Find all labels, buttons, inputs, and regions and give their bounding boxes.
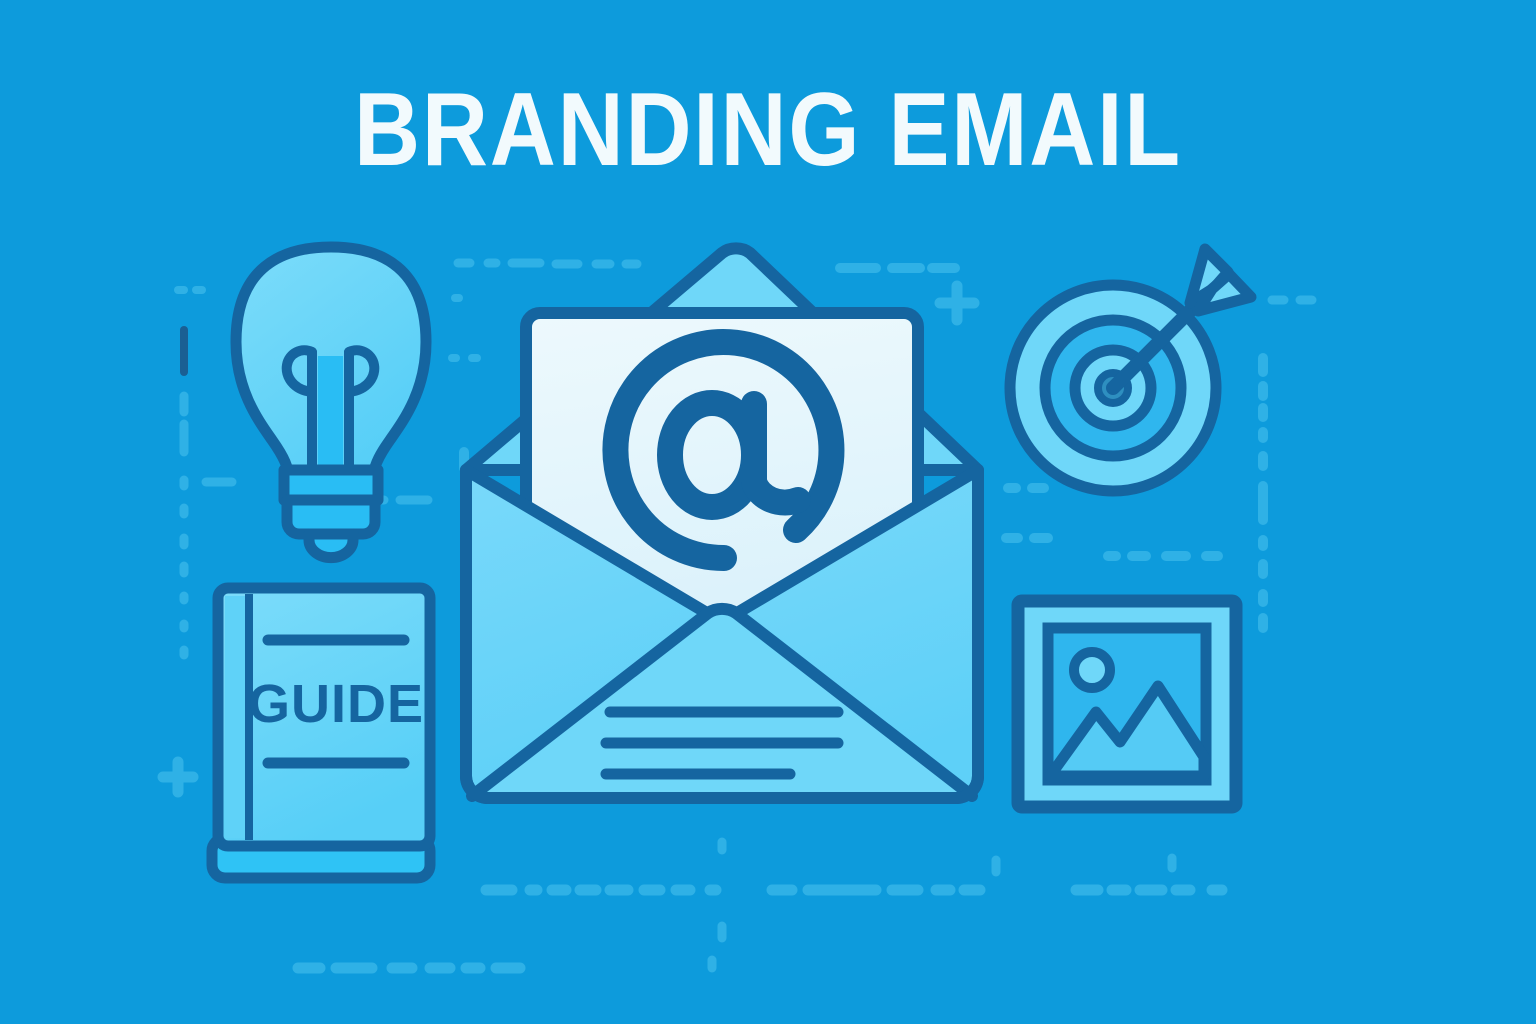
image-placeholder-hotspot[interactable] — [1010, 594, 1244, 816]
target-hotspot[interactable] — [1004, 242, 1258, 534]
plus-decoration-bottom-left — [163, 762, 193, 792]
lightbulb-hotspot[interactable] — [230, 240, 436, 550]
illustration-canvas: BRANDING EMAIL — [0, 0, 1536, 1024]
envelope-hotspot[interactable] — [460, 246, 986, 806]
guide-book-hotspot[interactable] — [206, 582, 436, 882]
